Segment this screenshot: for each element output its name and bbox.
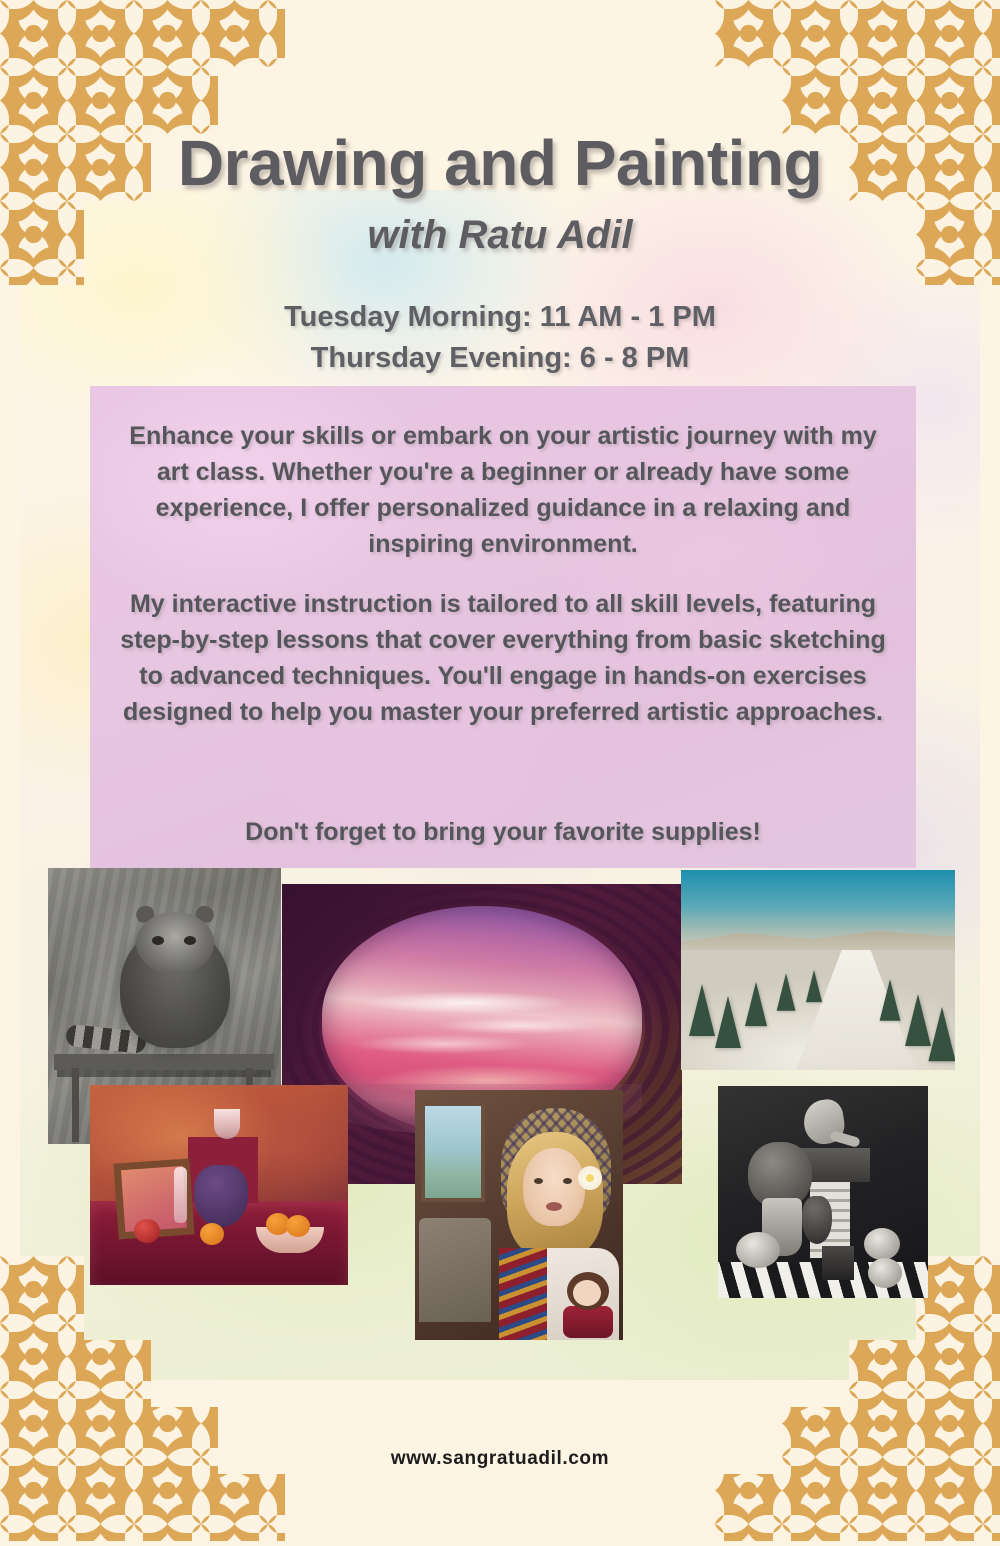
raccoon-table-leg-left — [72, 1068, 79, 1142]
portrait-girl-eye-left — [534, 1178, 543, 1184]
monochrome-pumpkin — [736, 1232, 780, 1268]
winter-pine-tree — [715, 996, 741, 1048]
raccoon-eye-right — [184, 936, 196, 945]
ornament-bottom-left — [0, 1256, 285, 1546]
portrait-window — [421, 1102, 485, 1202]
description-paragraph-1: Enhance your skills or embark on your ar… — [124, 418, 882, 562]
still-life-goblet — [214, 1109, 240, 1139]
monochrome-bird-tail — [829, 1130, 861, 1148]
monochrome-grapes — [802, 1196, 832, 1244]
schedule-line-2: Thursday Evening: 6 - 8 PM — [0, 338, 1000, 379]
ornament-bottom-right — [715, 1256, 1000, 1546]
still-life-orange — [286, 1215, 310, 1237]
poster: Drawing and Painting with Ratu Adil Tues… — [0, 0, 1000, 1546]
portrait-girl-mouth — [546, 1202, 562, 1211]
raccoon-table — [54, 1054, 274, 1070]
portrait-doll-body — [563, 1306, 613, 1338]
artwork-monochrome-still-life — [718, 1086, 928, 1298]
portrait-doll — [561, 1272, 613, 1338]
description-panel: Enhance your skills or embark on your ar… — [90, 386, 916, 868]
monochrome-pumpkin — [868, 1258, 902, 1288]
still-life-apple — [134, 1219, 160, 1243]
portrait-chair — [419, 1218, 491, 1322]
winter-pine-tree — [745, 982, 767, 1026]
still-life-grapes — [194, 1165, 248, 1227]
raccoon-eye-left — [152, 936, 164, 945]
footer-website[interactable]: www.sangratuadil.com — [0, 1448, 1000, 1470]
description-paragraph-3: Don't forget to bring your favorite supp… — [120, 814, 886, 850]
artwork-winter-landscape-painting — [681, 870, 955, 1070]
winter-pine-tree — [689, 984, 715, 1036]
monochrome-bucket — [822, 1246, 854, 1280]
winter-pine-tree — [806, 970, 822, 1002]
description-paragraph-2: My interactive instruction is tailored t… — [112, 586, 894, 730]
schedule-block: Tuesday Morning: 11 AM - 1 PM Thursday E… — [0, 297, 1000, 379]
ornament-bottom-right-tiles — [715, 1256, 1000, 1541]
portrait-girl-face — [523, 1148, 585, 1226]
artwork-red-drapery-still-life — [90, 1085, 348, 1285]
still-life-orange — [200, 1223, 224, 1245]
winter-pine-tree — [928, 1007, 955, 1062]
page-title: Drawing and Painting — [0, 126, 1000, 200]
artwork-girl-with-doll-portrait — [415, 1090, 623, 1340]
page-subtitle: with Ratu Adil — [0, 213, 1000, 258]
ornament-bottom-left-tiles — [0, 1256, 285, 1541]
winter-pine-tree — [880, 979, 901, 1021]
monochrome-pumpkin — [864, 1228, 900, 1260]
portrait-plumeria-flower — [578, 1166, 602, 1190]
portrait-girl-eye-right — [563, 1178, 572, 1184]
schedule-line-1: Tuesday Morning: 11 AM - 1 PM — [0, 297, 1000, 338]
portrait-doll-face — [573, 1280, 601, 1306]
portrait-girl-shawl — [499, 1248, 547, 1340]
winter-pine-tree — [777, 973, 796, 1010]
winter-pine-tree — [905, 994, 931, 1046]
still-life-bottle — [174, 1167, 187, 1223]
raccoon-head — [136, 912, 214, 974]
